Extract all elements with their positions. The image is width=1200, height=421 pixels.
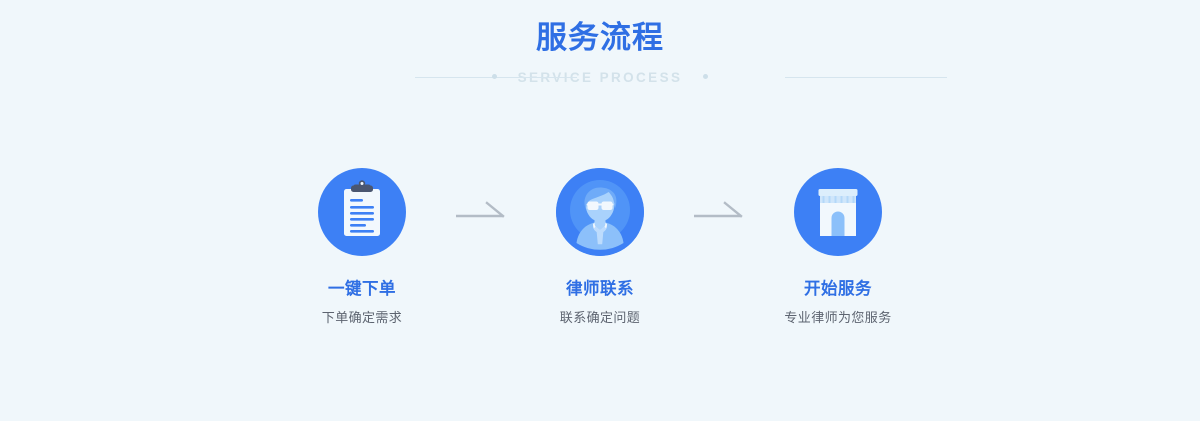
step-icon-circle [318,168,406,256]
subtitle-row: SERVICE PROCESS [0,66,1200,88]
process-steps: 一键下单 下单确定需求 [0,168,1200,328]
step-description: 联系确定问题 [560,310,640,328]
lawyer-avatar-icon [556,168,644,256]
rule-line [785,77,947,78]
clipboard-icon [318,168,406,256]
step-title: 律师联系 [566,278,634,300]
step-description: 专业律师为您服务 [784,310,891,328]
storefront-icon [794,168,882,256]
section-heading: 服务流程 SERVICE PROCESS [0,18,1200,88]
arrow-right-icon [456,201,506,223]
heading-rule-left [334,73,496,82]
step-connector [450,168,512,256]
step-description: 下单确定需求 [322,310,402,328]
process-step-order[interactable]: 一键下单 下单确定需求 [274,168,450,328]
page-title: 服务流程 [0,18,1200,58]
process-step-service[interactable]: 开始服务 专业律师为您服务 [750,168,926,328]
process-step-contact[interactable]: 律师联系 联系确定问题 [512,168,688,328]
rule-dot [703,74,708,79]
service-process-section: 服务流程 SERVICE PROCESS [0,0,1200,421]
step-connector [688,168,750,256]
step-title: 一键下单 [328,278,396,300]
step-title: 开始服务 [804,278,872,300]
step-icon-circle [556,168,644,256]
step-icon-circle [794,168,882,256]
arrow-right-icon [694,201,744,223]
rule-dot [492,74,497,79]
heading-rule-right [704,73,866,82]
